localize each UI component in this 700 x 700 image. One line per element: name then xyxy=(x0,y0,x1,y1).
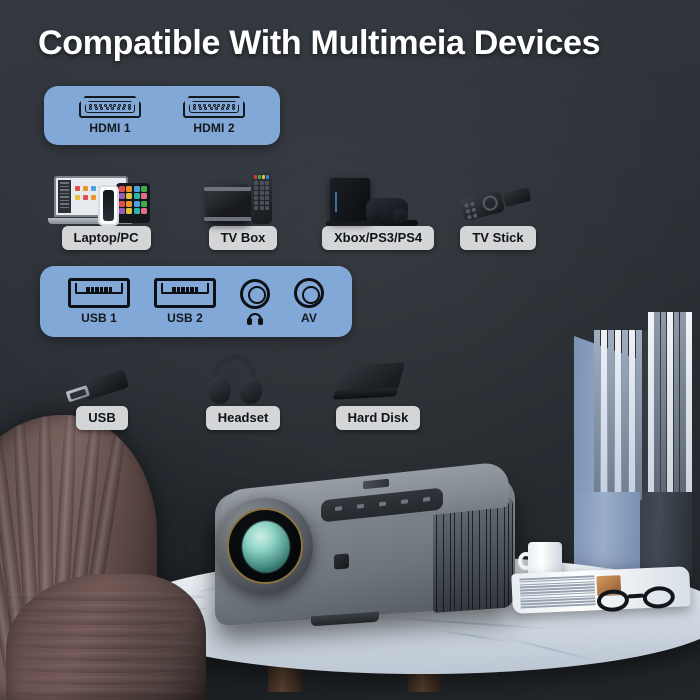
tv-stick-icon xyxy=(455,170,541,226)
usb-port-icon xyxy=(154,278,216,308)
projector-ir-sensor xyxy=(334,553,349,569)
port-label: USB 1 xyxy=(81,311,117,325)
page-title: Compatible With Multimeia Devices xyxy=(38,24,600,63)
usb-flash-drive-icon xyxy=(60,350,144,406)
headset-icon xyxy=(198,350,288,406)
tv-box-icon xyxy=(203,170,283,226)
device-label: TV Stick xyxy=(460,226,535,250)
device-hard-disk: Hard Disk xyxy=(332,350,424,430)
hdmi-panel: HDMI 1 HDMI 2 xyxy=(44,86,280,145)
hdmi-port-icon xyxy=(183,96,245,118)
headphone-jack-icon xyxy=(240,279,270,309)
device-label: TV Box xyxy=(209,226,278,250)
port-headphone xyxy=(240,279,270,325)
port-av: AV xyxy=(294,278,324,325)
hdmi-port-icon xyxy=(79,96,141,118)
eyeglasses xyxy=(596,585,676,616)
device-usb-drive: USB xyxy=(60,350,144,430)
port-label: HDMI 2 xyxy=(193,121,234,135)
port-label: AV xyxy=(301,311,317,325)
device-label: Hard Disk xyxy=(336,406,421,430)
holder-documents-blue xyxy=(594,330,646,500)
port-hdmi-1: HDMI 1 xyxy=(79,96,141,135)
port-usb-2: USB 2 xyxy=(154,278,216,325)
device-tv-stick: TV Stick xyxy=(455,170,541,250)
usb-panel: USB 1 USB 2 AV xyxy=(40,266,352,337)
magazine-holder-blue-front xyxy=(574,492,640,576)
holder-documents-dark xyxy=(648,312,694,498)
headphone-icon xyxy=(246,313,264,325)
hard-disk-icon xyxy=(332,350,424,406)
device-label: USB xyxy=(76,406,127,430)
projector-product xyxy=(215,484,515,616)
device-game-console: Xbox/PS3/PS4 xyxy=(322,170,434,250)
port-usb-1: USB 1 xyxy=(68,278,130,325)
usb-port-icon xyxy=(68,278,130,308)
device-label: Laptop/PC xyxy=(62,226,151,250)
port-hdmi-2: HDMI 2 xyxy=(183,96,245,135)
projector-lens xyxy=(217,498,313,594)
magazine-holder-dark-front xyxy=(632,492,692,576)
device-label: Xbox/PS3/PS4 xyxy=(322,226,434,250)
armchair-arm xyxy=(6,574,206,700)
device-tv-box: TV Box xyxy=(203,170,283,250)
device-laptop-pc: Laptop/PC xyxy=(54,170,158,250)
device-label: Headset xyxy=(206,406,281,430)
port-label: USB 2 xyxy=(167,311,203,325)
game-console-icon xyxy=(326,170,430,226)
port-label: HDMI 1 xyxy=(89,121,130,135)
laptop-phone-tablet-icon xyxy=(54,170,158,226)
device-headset: Headset xyxy=(198,350,288,430)
av-jack-icon xyxy=(294,278,324,308)
